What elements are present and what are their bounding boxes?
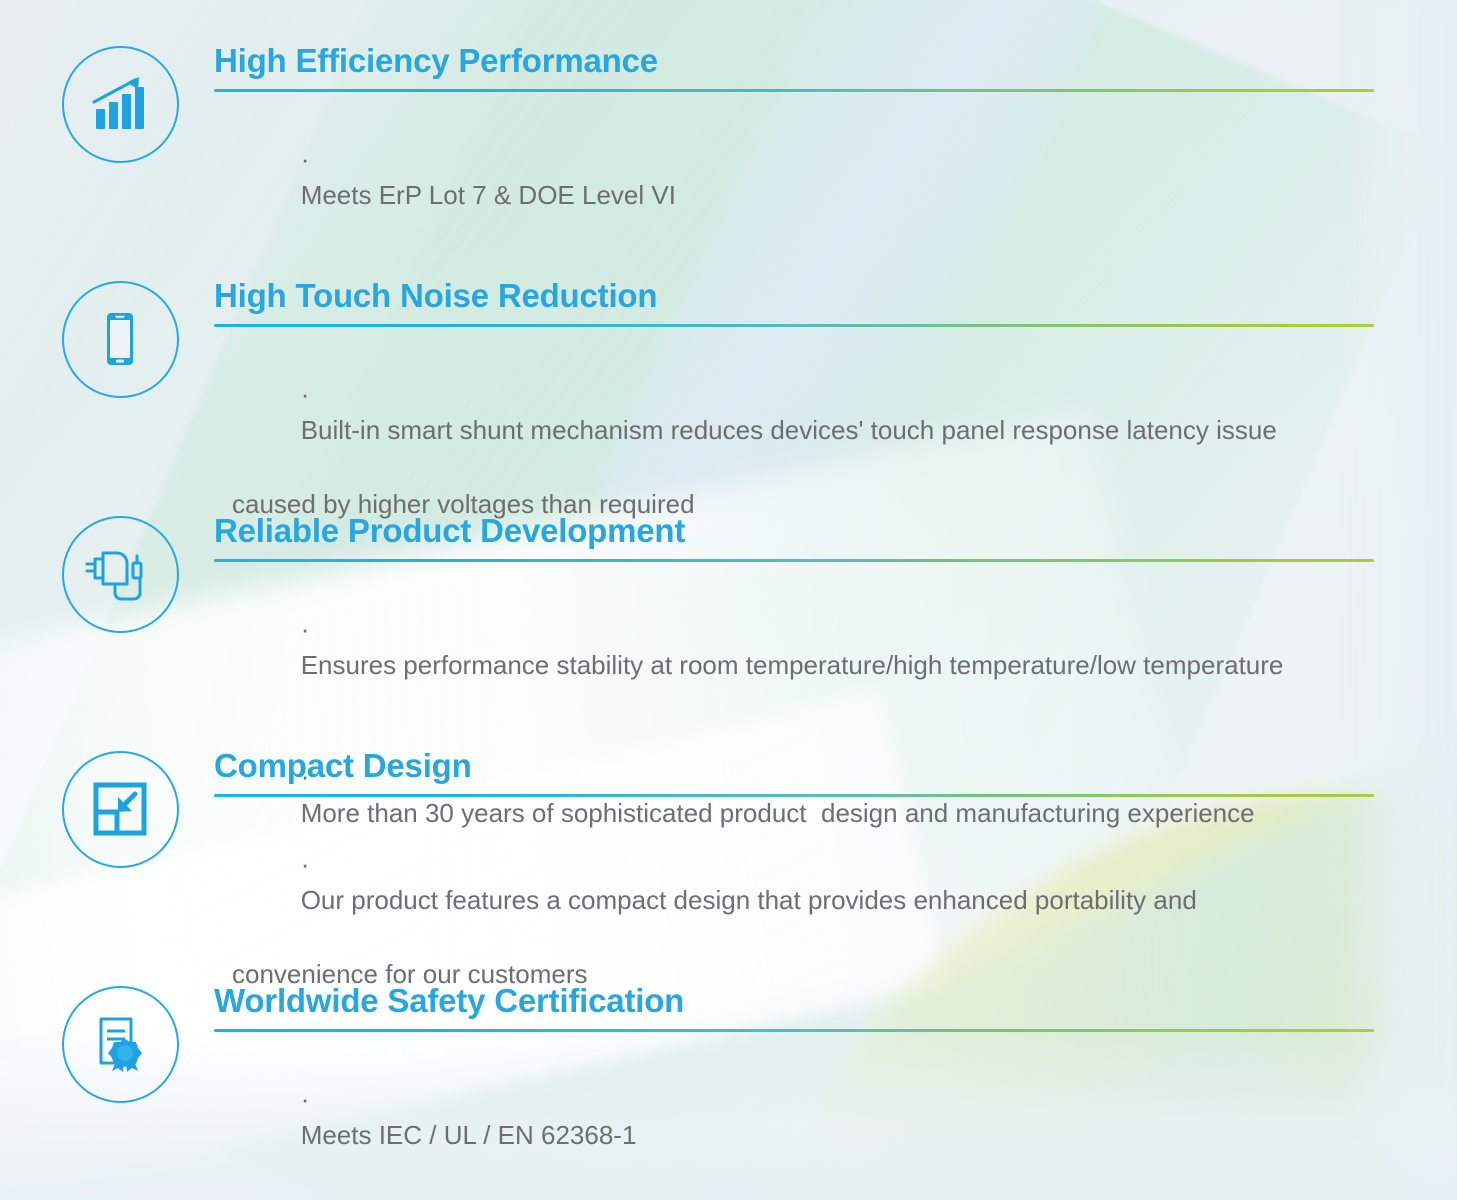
certificate-award-icon bbox=[62, 986, 179, 1103]
feature-description-text: Ensures performance stability at room te… bbox=[301, 650, 1284, 680]
feature-poster: High Efficiency Performance · Meets ErP … bbox=[0, 0, 1457, 1200]
feature-description-line: · Meets IEC / UL / EN 62368-1 bbox=[214, 1044, 1376, 1192]
feature-text-block: Worldwide Safety Certification · Meets I… bbox=[214, 984, 1376, 1191]
feature-description-list: · Meets IEC / UL / EN 62368-1 bbox=[214, 1044, 1376, 1192]
feature-description-line: · Ensures performance stability at room … bbox=[214, 574, 1376, 722]
feature-icon-wrapper bbox=[60, 984, 180, 1104]
feature-icon-wrapper bbox=[60, 279, 180, 399]
feature-list: High Efficiency Performance · Meets ErP … bbox=[0, 0, 1457, 1200]
feature-divider-rule bbox=[214, 89, 1374, 92]
feature-title: High Efficiency Performance bbox=[214, 44, 1376, 79]
feature-title: Reliable Product Development bbox=[214, 514, 1376, 549]
feature-description-text: Meets IEC / UL / EN 62368-1 bbox=[301, 1120, 637, 1150]
feature-title: High Touch Noise Reduction bbox=[214, 279, 1376, 314]
feature-divider-rule bbox=[214, 1029, 1374, 1032]
feature-description-text: Our product features a compact design th… bbox=[301, 885, 1197, 915]
feature-icon-wrapper bbox=[60, 514, 180, 634]
feature-title: Worldwide Safety Certification bbox=[214, 984, 1376, 1019]
feature-divider-rule bbox=[214, 324, 1374, 327]
bullet-glyph: · bbox=[301, 1084, 310, 1114]
bullet-glyph: · bbox=[301, 849, 310, 879]
feature-divider-rule bbox=[214, 794, 1374, 797]
bar-chart-growth-icon bbox=[62, 46, 179, 163]
feature-description-text: Meets ErP Lot 7 & DOE Level VI bbox=[301, 180, 676, 210]
feature-description-line: · Meets ErP Lot 7 & DOE Level VI bbox=[214, 104, 1376, 252]
bullet-glyph: · bbox=[301, 144, 310, 174]
feature-title: Compact Design bbox=[214, 749, 1376, 784]
feature-icon-wrapper bbox=[60, 44, 180, 164]
feature-icon-wrapper bbox=[60, 749, 180, 869]
bullet-glyph: · bbox=[301, 379, 310, 409]
power-adapter-icon bbox=[62, 516, 179, 633]
bullet-glyph: · bbox=[301, 614, 310, 644]
feature-text-block: High Efficiency Performance · Meets ErP … bbox=[214, 44, 1376, 251]
compact-resize-icon bbox=[62, 751, 179, 868]
smartphone-icon bbox=[62, 281, 179, 398]
feature-description-text: Built-in smart shunt mechanism reduces d… bbox=[301, 415, 1277, 445]
feature-divider-rule bbox=[214, 559, 1374, 562]
feature-description-list: · Meets ErP Lot 7 & DOE Level VI bbox=[214, 104, 1376, 252]
